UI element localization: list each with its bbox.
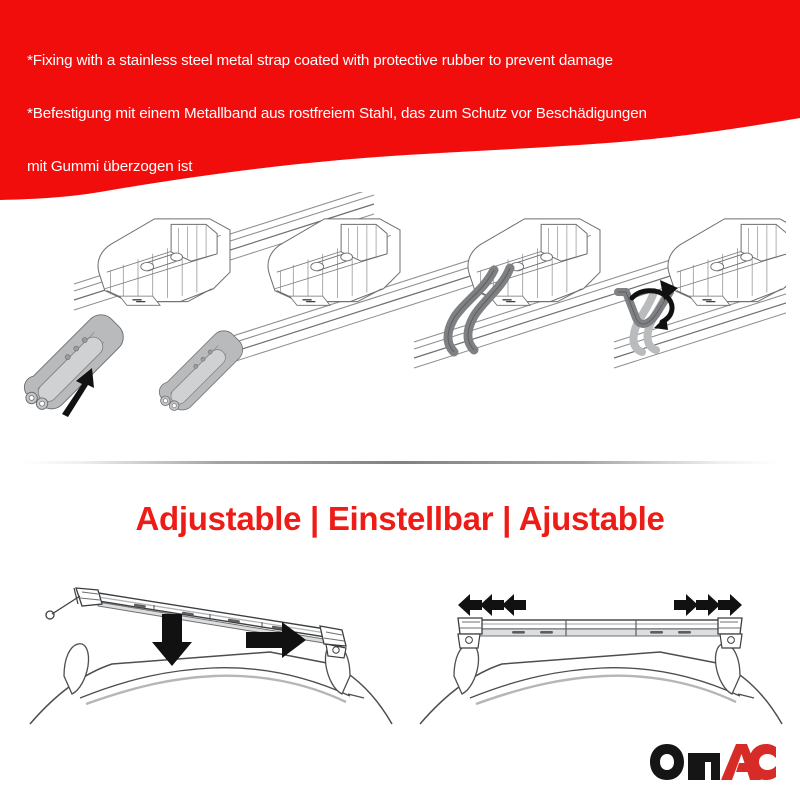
- strap-installation-illustrations: [14, 192, 786, 457]
- logo-letter-o: [650, 744, 684, 780]
- red-header-banner: *Fixing with a stainless steel metal str…: [0, 0, 800, 200]
- adjustable-heading: Adjustable | Einstellbar | Ajustable: [0, 500, 800, 538]
- section-divider: [22, 461, 778, 464]
- omac-logo: [648, 740, 778, 784]
- header-description-text: *Fixing with a stainless steel metal str…: [27, 16, 787, 200]
- adjustable-bar-illustrations: [14, 558, 786, 736]
- step-4-tighten-strap: [614, 219, 786, 368]
- cross-bar-level: [458, 618, 742, 648]
- panel-bar-width-adjust: [420, 594, 782, 724]
- triple-left-arrow-icon: [458, 594, 526, 616]
- logo-letter-m: [688, 753, 720, 780]
- header-line-de-2: mit Gummi überzogen ist: [27, 158, 787, 176]
- product-feature-image: *Fixing with a stainless steel metal str…: [0, 0, 800, 800]
- header-line-en: *Fixing with a stainless steel metal str…: [27, 52, 787, 70]
- panel-bar-placement: [30, 588, 392, 724]
- header-line-de-1: *Befestigung mit einem Metallband aus ro…: [27, 105, 787, 123]
- triple-right-arrow-icon: [674, 594, 742, 616]
- cross-bar-tilted: [46, 588, 346, 658]
